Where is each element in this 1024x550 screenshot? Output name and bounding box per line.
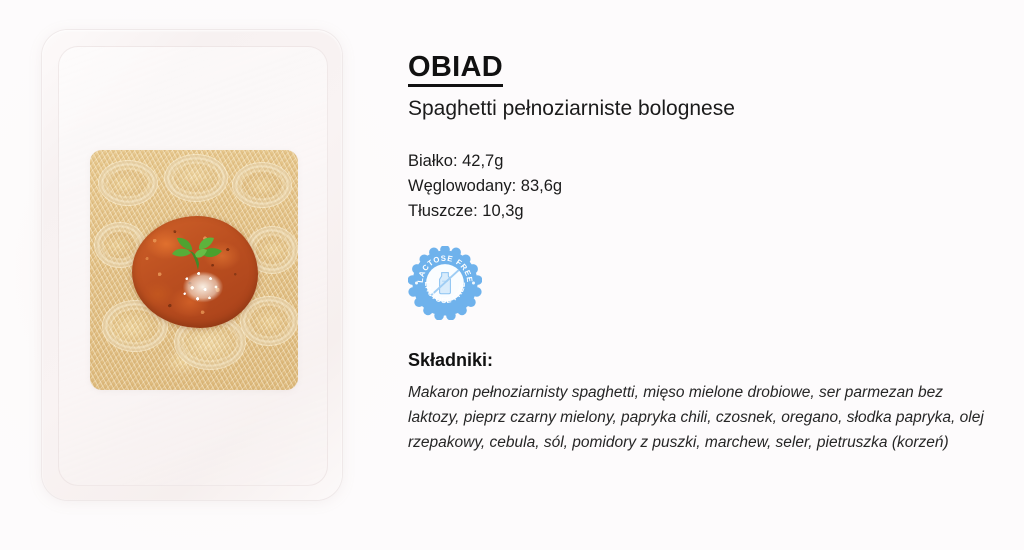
spaghetti-nest bbox=[98, 160, 158, 206]
nutrition-list: Białko: 42,7g Węglowodany: 83,6g Tłuszcz… bbox=[408, 149, 984, 224]
nutrition-fat: Tłuszcze: 10,3g bbox=[408, 199, 984, 224]
meal-type-title: OBIAD bbox=[408, 52, 503, 87]
dietary-badge-list: LACTOSE FREE LACTOSE FREE bbox=[408, 246, 984, 320]
meal-container-tray bbox=[90, 150, 298, 390]
spaghetti-nest bbox=[164, 154, 228, 202]
nutrition-carbohydrates: Węglowodany: 83,6g bbox=[408, 174, 984, 199]
meal-info-card: OBIAD Spaghetti pełnoziarniste bolognese… bbox=[0, 0, 1024, 550]
parsley-garnish-icon bbox=[168, 236, 228, 276]
ingredients-text: Makaron pełnoziarnisty spaghetti, mięso … bbox=[408, 380, 984, 455]
spaghetti-nest bbox=[232, 162, 292, 208]
lactose-free-badge-icon: LACTOSE FREE LACTOSE FREE bbox=[408, 246, 482, 320]
ingredients-heading: Składniki: bbox=[408, 350, 984, 371]
nutrition-protein: Białko: 42,7g bbox=[408, 149, 984, 174]
meal-details: OBIAD Spaghetti pełnoziarniste bolognese… bbox=[400, 0, 1024, 550]
meal-photo bbox=[0, 0, 400, 550]
dish-name: Spaghetti pełnoziarniste bolognese bbox=[408, 96, 984, 121]
ingredients-section: Składniki: Makaron pełnoziarnisty spaghe… bbox=[408, 350, 984, 455]
spaghetti-nest bbox=[240, 296, 298, 346]
